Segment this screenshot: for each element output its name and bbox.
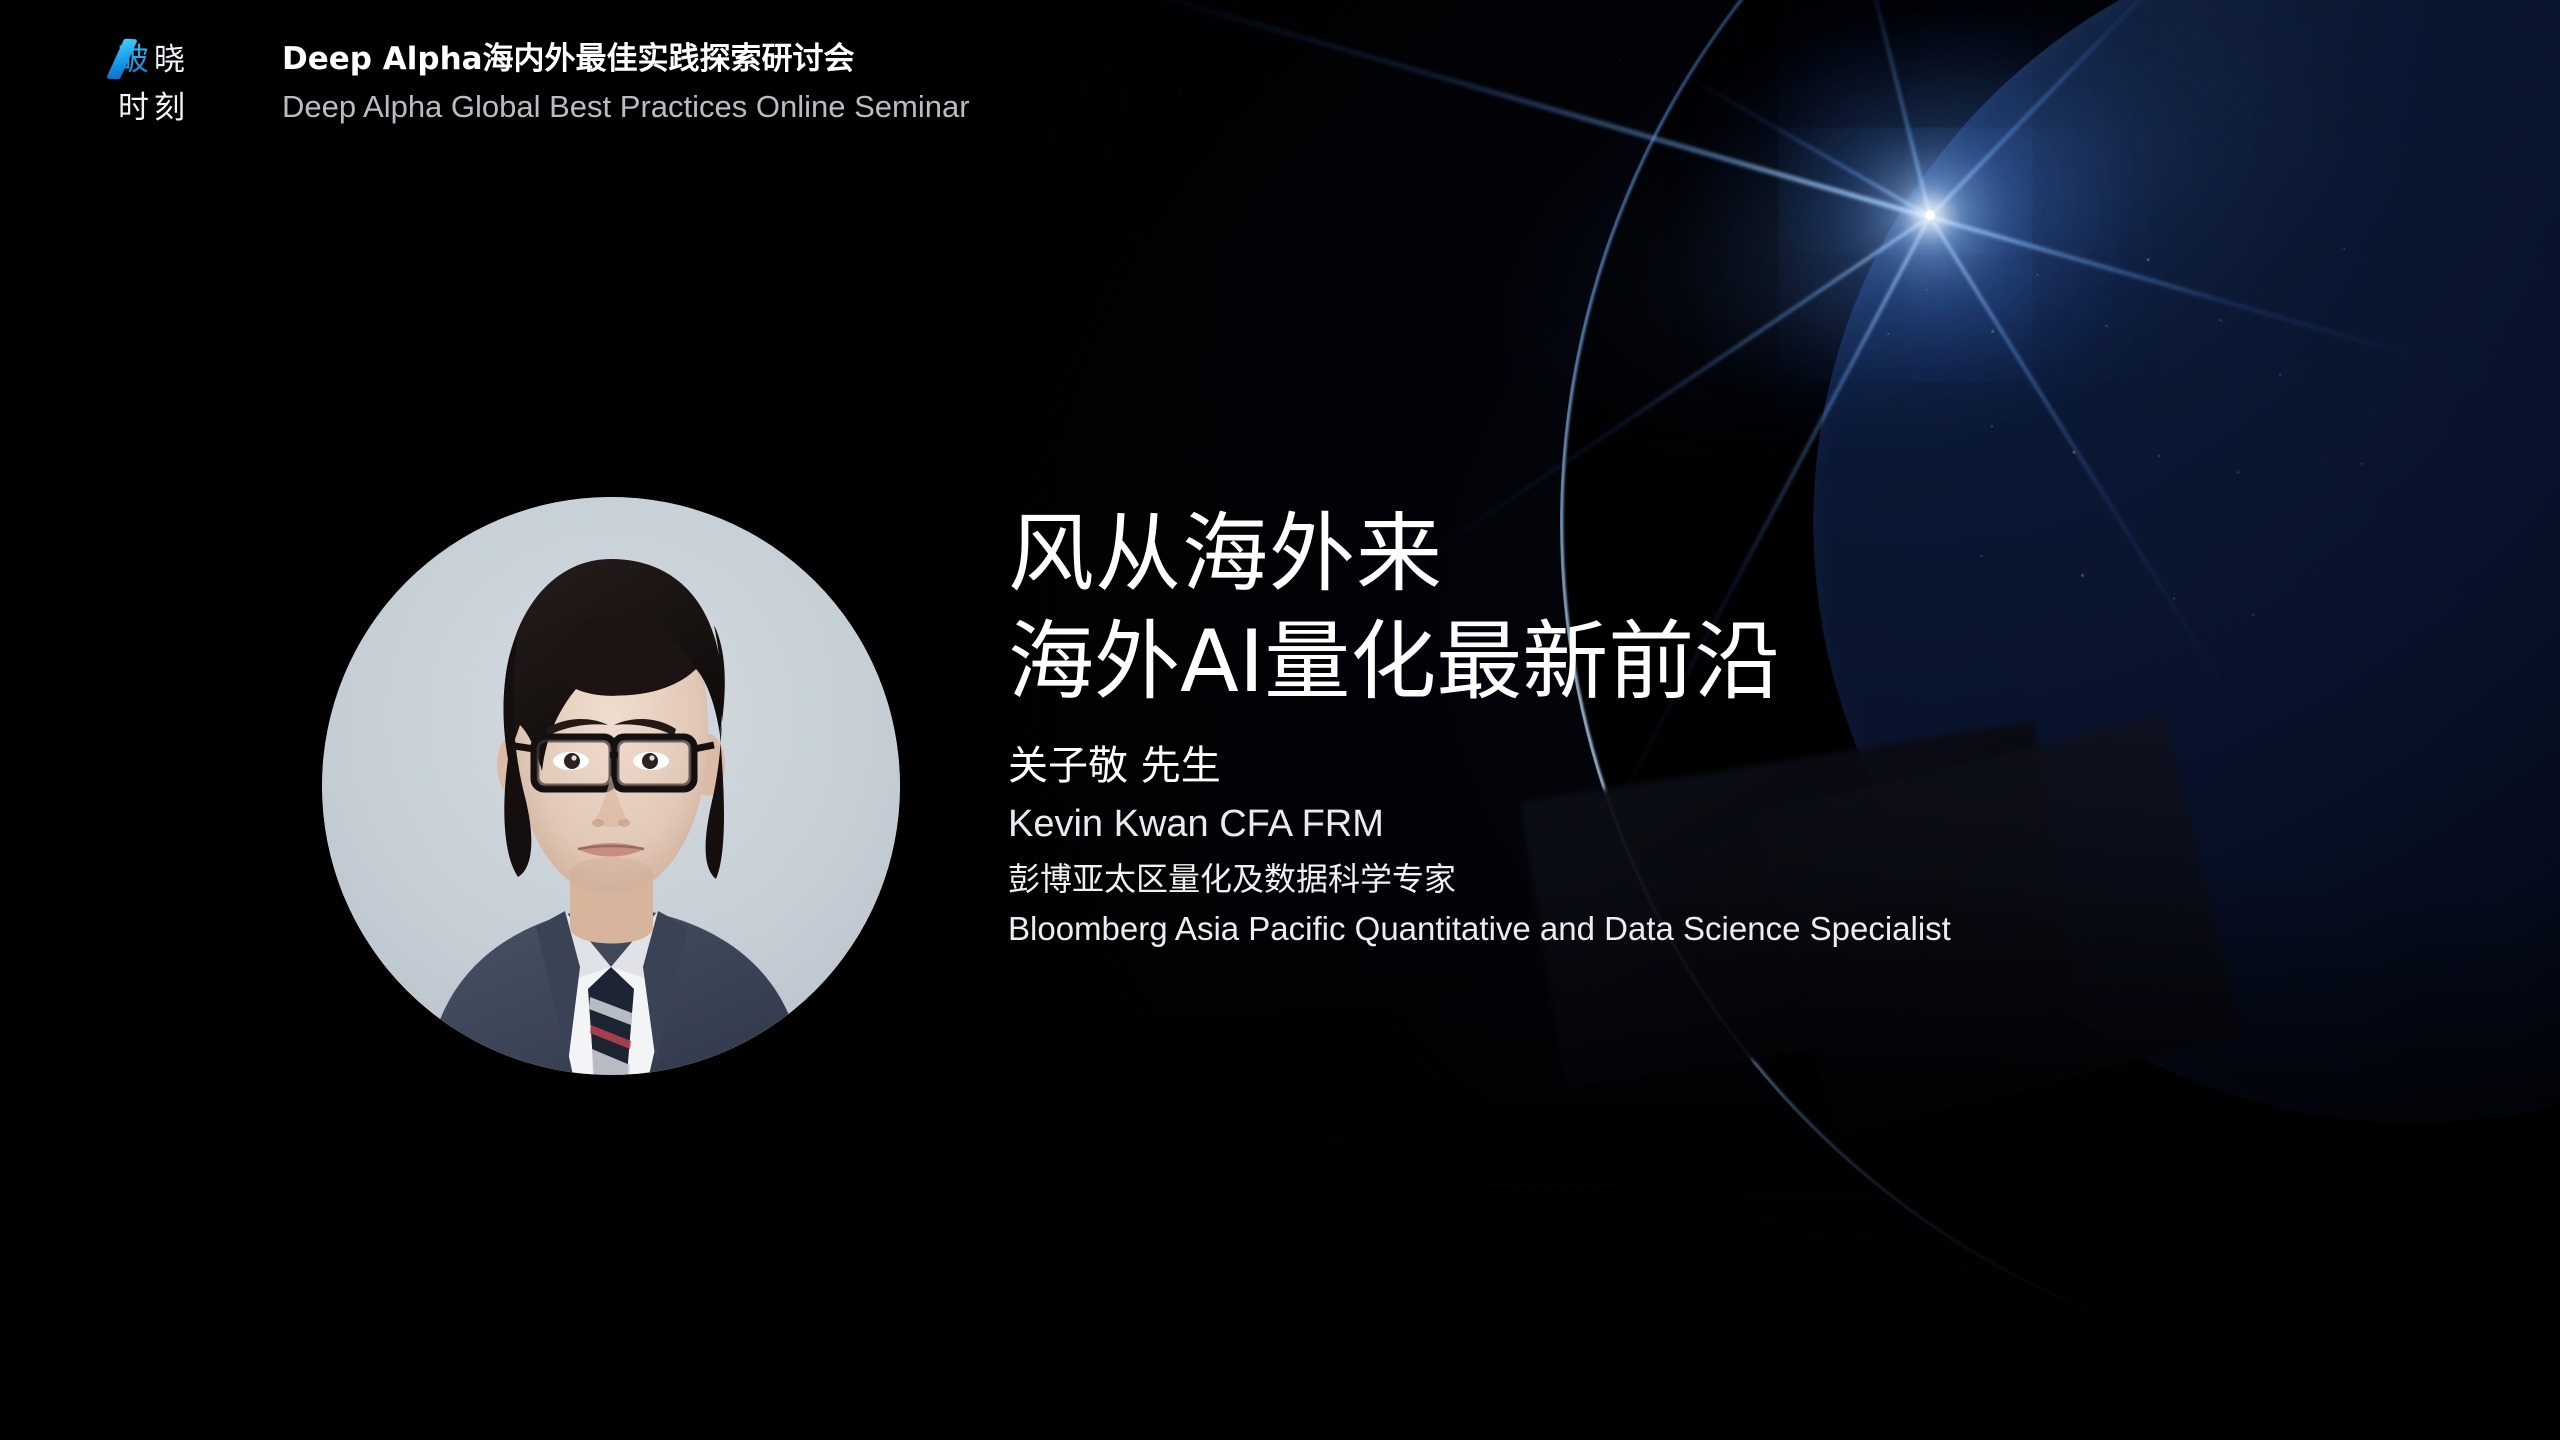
speaker-name-cn: 关子敬 先生 [1008,743,2348,790]
brand-logo: 破晓 时刻 [118,36,230,130]
talk-title: 风从海外来 海外AI量化最新前沿 [1008,500,2348,717]
slide-content: 风从海外来 海外AI量化最新前沿 关子敬 先生 Kevin Kwan CFA F… [1008,500,2348,949]
speaker-name-en: Kevin Kwan CFA FRM [1008,802,2348,847]
speaker-role-cn: 彭博亚太区量化及数据科学专家 [1008,861,2348,899]
speaker-info: 关子敬 先生 Kevin Kwan CFA FRM 彭博亚太区量化及数据科学专家… [1008,743,2348,950]
speaker-portrait-avatar [322,497,900,1075]
speaker-portrait-image [322,497,900,1075]
talk-title-line-1: 风从海外来 [1008,500,2348,608]
brand-logo-char-rest: 晓 [154,42,190,78]
seminar-title-en: Deep Alpha Global Best Practices Online … [282,85,970,129]
slide-header: 破晓 时刻 Deep Alpha海内外最佳实践探索研讨会 Deep Alpha … [118,36,970,130]
sun-flare-core [1925,210,1935,220]
seminar-title-group: Deep Alpha海内外最佳实践探索研讨会 Deep Alpha Global… [282,36,970,129]
brand-logo-line-2: 时刻 [118,86,230,130]
brand-logo-line-1: 破晓 [118,38,230,82]
seminar-title-cn: Deep Alpha海内外最佳实践探索研讨会 [282,37,970,81]
speaker-role-en: Bloomberg Asia Pacific Quantitative and … [1008,910,2348,949]
presentation-slide: 破晓 时刻 Deep Alpha海内外最佳实践探索研讨会 Deep Alpha … [0,0,2560,1440]
talk-title-line-2: 海外AI量化最新前沿 [1008,608,2348,716]
